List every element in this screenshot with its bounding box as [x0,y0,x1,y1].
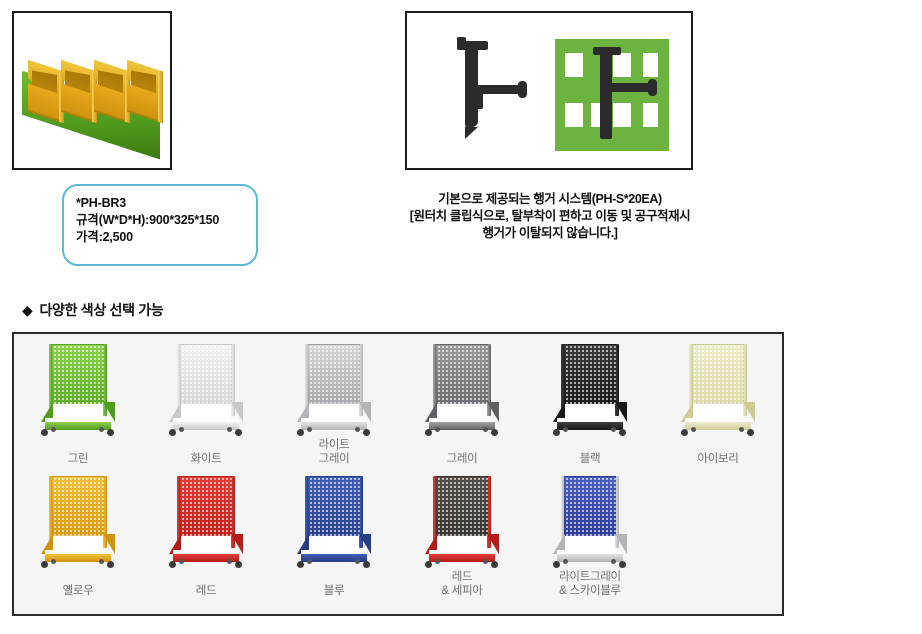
pegboard-slot [643,103,658,127]
parts-bin [94,60,127,123]
color-option[interactable]: 블랙 [526,342,654,466]
hanger-arm-tip [518,81,527,98]
color-option-label-line-2: & 스카이블루 [526,584,654,598]
color-option-label: 화이트 [142,452,270,466]
mounted-hanger-spine [600,51,612,139]
color-option-label-line-1: 라이트 [270,438,398,452]
pegboard-rack-thumbnail [295,344,373,434]
pegboard-slot [613,103,631,127]
color-options-row-1: 그린화이트라이트그레이그레이블랙아이보리 [14,342,782,466]
color-option-label-line-1: 레드 [142,584,270,598]
hanger-illustration [407,13,691,168]
color-options-panel: 그린화이트라이트그레이그레이블랙아이보리 옐로우레드블루레드& 세피아라이트그레… [12,332,784,616]
color-option-label: 그레이 [398,452,526,466]
color-option-label: 아이보리 [654,452,782,466]
hanger-caption-line-3: 행거가 이탈되지 않습니다.] [330,225,770,242]
pegboard-rack-thumbnail [423,344,501,434]
color-option-label: 블루 [270,584,398,598]
pegboard-rack-thumbnail [551,344,629,434]
color-option[interactable]: 레드& 세피아 [398,474,526,598]
pegboard-rack-thumbnail [167,476,245,566]
spec-dimensions: 규격(W*D*H):900*325*150 [76,212,256,229]
color-option[interactable]: 아이보리 [654,342,782,466]
color-option-label: 옐로우 [14,584,142,598]
hanger-caption-line-1: 기본으로 제공되는 행거 시스템(PH-S*20EA) [330,191,770,208]
color-option[interactable]: 그레이 [398,342,526,466]
color-option-label: 레드 [142,584,270,598]
spec-callout-box: *PH-BR3 규격(W*D*H):900*325*150 가격:2,500 [62,184,258,266]
color-option[interactable]: 화이트 [142,342,270,466]
colors-section-title: 다양한 색상 선택 가능 [39,302,163,318]
hanger-caption: 기본으로 제공되는 행거 시스템(PH-S*20EA) [원터치 클립식으로, … [330,191,770,242]
color-option[interactable]: 그린 [14,342,142,466]
color-option-label-line-1: 블랙 [526,452,654,466]
pegboard-slot [565,53,583,77]
spec-price: 가격:2,500 [76,229,256,246]
parts-bin [28,60,61,123]
pegboard-slot [613,53,631,77]
color-option-label-line-2: & 세피아 [398,584,526,598]
color-option-label-line-1: 옐로우 [14,584,142,598]
color-option-label-line-1: 블루 [270,584,398,598]
color-option[interactable]: 라이트그레이 [270,342,398,466]
colors-section-heading: ◆다양한 색상 선택 가능 [22,300,163,320]
color-option-label-line-1: 라이트그레이 [526,570,654,584]
pegboard-rack-thumbnail [39,476,117,566]
color-option-label: 블랙 [526,452,654,466]
color-options-row-2: 옐로우레드블루레드& 세피아라이트그레이& 스카이블루 [14,474,782,598]
pegboard-slot [565,103,583,127]
color-option-label: 라이트그레이 [270,438,398,466]
parts-bin [127,60,160,123]
color-option-label: 라이트그레이& 스카이블루 [526,570,654,598]
color-option[interactable]: 블루 [270,474,398,598]
color-option[interactable]: 레드 [142,474,270,598]
color-option[interactable]: 라이트그레이& 스카이블루 [526,474,654,598]
color-option-label-line-1: 화이트 [142,452,270,466]
hanger-caption-line-2: [원터치 클립식으로, 탈부착이 편하고 이동 및 공구적재시 [330,208,770,225]
pegboard-rack-thumbnail [167,344,245,434]
color-option-label-line-1: 아이보리 [654,452,782,466]
pegboard-rack-thumbnail [39,344,117,434]
pegboard-rack-thumbnail [423,476,501,566]
product-photo-bins [12,11,172,170]
color-option-label: 레드& 세피아 [398,570,526,598]
pegboard-rack-thumbnail [295,476,373,566]
diamond-bullet-icon: ◆ [22,302,32,318]
color-option-label-line-1: 그레이 [398,452,526,466]
color-option-label-line-1: 그린 [14,452,142,466]
parts-bin [61,60,94,123]
hanger-arm [476,85,524,94]
spec-model: *PH-BR3 [76,195,256,212]
color-option-label: 그린 [14,452,142,466]
mounted-hanger-arm-tip [648,79,657,96]
product-photo-hanger [405,11,693,170]
pegboard-rack-thumbnail [679,344,757,434]
color-option-label-line-2: 그레이 [270,452,398,466]
pegboard-rack-thumbnail [551,476,629,566]
color-option[interactable]: 옐로우 [14,474,142,598]
bins-illustration [14,13,170,168]
color-option-label-line-1: 레드 [398,570,526,584]
pegboard-slot [643,53,658,77]
